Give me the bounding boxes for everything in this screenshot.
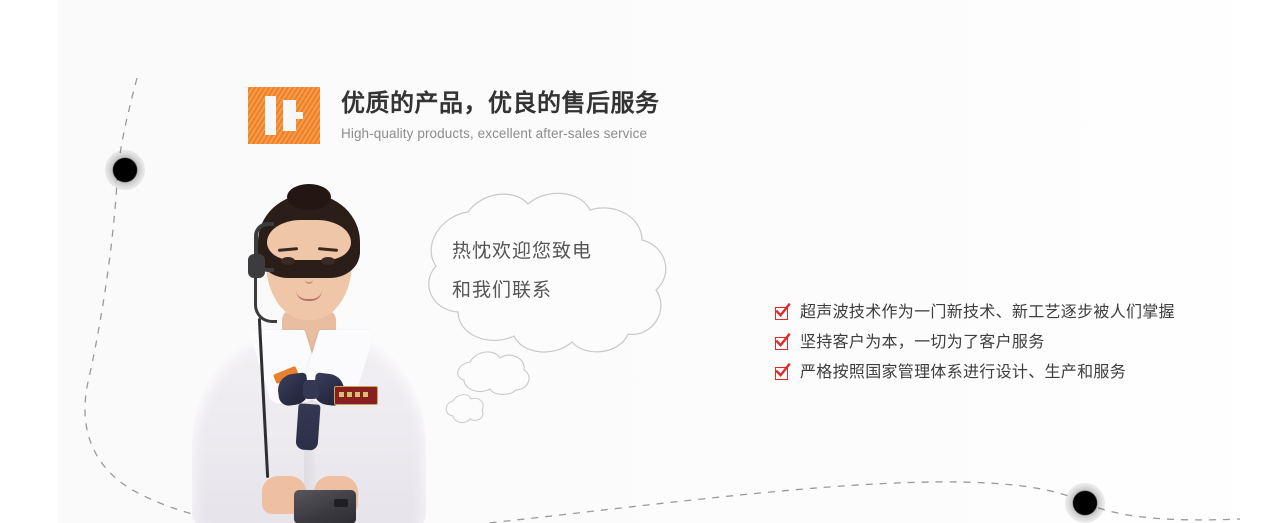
bowtie-knot [303, 380, 319, 399]
speech-bubble-text: 热忱欢迎您致电 和我们联系 [452, 232, 642, 310]
agent-photo [186, 178, 432, 523]
digit-three-middle-bar [283, 112, 303, 119]
promo-banner-section: 优质的产品，优良的售后服务 High-quality products, exc… [0, 0, 1280, 523]
background-left-margin [0, 0, 58, 523]
page-title: 优质的产品，优良的售后服务 [341, 89, 660, 119]
checkmark-icon [775, 307, 788, 320]
agent-hair-bun [287, 184, 331, 210]
digit-zero-glyph [265, 96, 276, 135]
agent-eye-right [321, 257, 335, 265]
agent-nose [305, 270, 313, 284]
feature-label: 坚持客户为本，一切为了客户服务 [800, 330, 1045, 356]
speech-bubble-line-1: 热忱欢迎您致电 [452, 232, 642, 271]
headset-earcup-icon [248, 254, 265, 278]
checkmark-icon [775, 337, 788, 350]
feature-list: 超声波技术作为一门新技术、新工艺逐步被人们掌握 坚持客户为本，一切为了客户服务 … [775, 298, 1215, 388]
feature-label: 严格按照国家管理体系进行设计、生产和服务 [800, 360, 1126, 386]
list-item: 超声波技术作为一门新技术、新工艺逐步被人们掌握 [775, 298, 1215, 328]
bowtie-tail [295, 403, 320, 450]
page-subtitle: High-quality products, excellent after-s… [341, 125, 660, 142]
section-number-badge [248, 87, 320, 144]
node-dot-left [105, 150, 145, 190]
list-item: 坚持客户为本，一切为了客户服务 [775, 328, 1215, 358]
speech-bubble-line-2: 和我们联系 [452, 271, 642, 310]
headset-microphone-icon [254, 276, 277, 323]
agent-bottom-fade [186, 505, 432, 523]
section-number-glyphs [248, 87, 320, 144]
digit-three-glyph [283, 96, 303, 135]
section-header-text: 优质的产品，优良的售后服务 High-quality products, exc… [341, 87, 660, 142]
checkmark-icon [775, 367, 788, 380]
feature-label: 超声波技术作为一门新技术、新工艺逐步被人们掌握 [800, 300, 1175, 326]
node-dot-right [1065, 483, 1105, 523]
agent-eye-left [281, 257, 295, 265]
agent-name-badge [334, 386, 378, 405]
list-item: 严格按照国家管理体系进行设计、生产和服务 [775, 358, 1215, 388]
section-header: 优质的产品，优良的售后服务 High-quality products, exc… [248, 87, 660, 144]
